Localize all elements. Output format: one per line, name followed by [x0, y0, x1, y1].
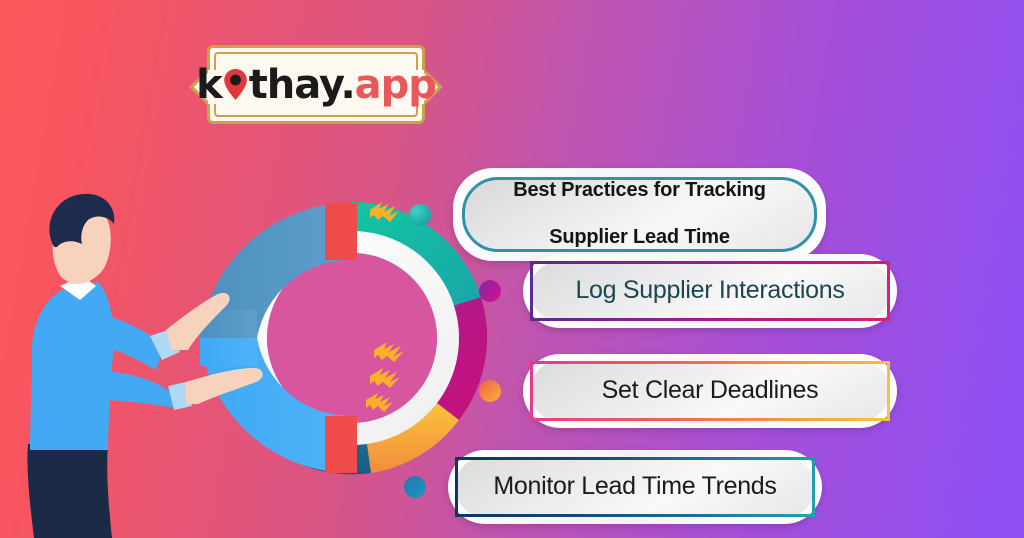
magnet-pole-south: [325, 416, 357, 473]
headline-pill[interactable]: Best Practices for Tracking Supplier Lea…: [453, 168, 826, 261]
list-item[interactable]: Log Supplier Interactions: [479, 254, 897, 328]
magnet-bend-bottom: [200, 338, 257, 366]
tip-label: Monitor Lead Time Trends: [493, 472, 776, 502]
bullet-dot-magenta: [479, 280, 501, 302]
tip-label: Set Clear Deadlines: [602, 376, 819, 406]
list-item[interactable]: Set Clear Deadlines: [479, 354, 897, 428]
magnet-pole-north: [325, 203, 357, 260]
headline-pill-inner: Best Practices for Tracking Supplier Lea…: [462, 177, 817, 252]
person-trousers: [27, 444, 112, 538]
logo-text-left: k: [196, 62, 222, 108]
page-title: Best Practices for Tracking Supplier Lea…: [513, 179, 766, 250]
logo-wordmark: k thay. app: [196, 62, 436, 108]
bullet-dot-orange: [479, 380, 501, 402]
brand-logo[interactable]: k thay. app: [207, 45, 425, 124]
logo-text-right: app: [355, 62, 436, 108]
tip-pill-set-clear-deadlines[interactable]: Set Clear Deadlines: [523, 354, 897, 428]
person-shirt: [30, 282, 113, 450]
bullet-dot-blue: [404, 476, 426, 498]
bullet-dot-teal: [409, 204, 431, 226]
tip-label: Log Supplier Interactions: [575, 276, 844, 306]
list-item[interactable]: Best Practices for Tracking Supplier Lea…: [409, 168, 826, 261]
tip-pill-inner: Monitor Lead Time Trends: [455, 457, 815, 517]
tip-pill-monitor-lead-time-trends[interactable]: Monitor Lead Time Trends: [448, 450, 822, 524]
location-pin-icon: [223, 68, 248, 101]
tip-pill-inner: Set Clear Deadlines: [530, 361, 890, 421]
tip-pill-log-supplier-interactions[interactable]: Log Supplier Interactions: [523, 254, 897, 328]
tip-pill-inner: Log Supplier Interactions: [530, 261, 890, 321]
list-item[interactable]: Monitor Lead Time Trends: [404, 450, 822, 524]
infographic-poster: k thay. app Best Practices for Tracking …: [0, 0, 1024, 538]
logo-text-mid: thay.: [249, 62, 355, 108]
